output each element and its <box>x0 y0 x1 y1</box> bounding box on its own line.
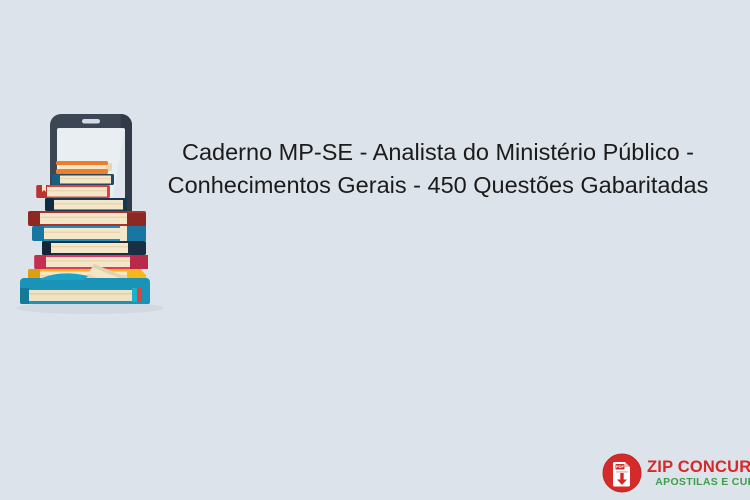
pdf-download-icon: PDF <box>602 453 642 493</box>
page-title-line-1: Caderno MP-SE - Analista do Ministério P… <box>160 136 716 169</box>
zip-concursos-logo[interactable]: PDF ZIP CONCURSOS APOSTILAS E CURSOS <box>602 450 742 496</box>
book-navy-mid <box>45 198 127 211</box>
book-blue-mid <box>32 226 146 241</box>
book-navy-upper <box>52 174 114 185</box>
page-title-line-2: Conhecimentos Gerais - 450 Questões Gaba… <box>160 169 716 202</box>
book-darkred-mid <box>28 211 146 226</box>
stack-of-books-with-tablet-illustration <box>12 112 172 317</box>
book-magenta <box>34 255 148 269</box>
book-red-upper <box>36 185 110 198</box>
poster-canvas: Caderno MP-SE - Analista do Ministério P… <box>0 0 750 500</box>
logo-wordmark: ZIP CONCURSOS APOSTILAS E CURSOS <box>647 458 750 489</box>
logo-subtitle: APOSTILAS E CURSOS <box>647 476 750 489</box>
book-navy-lower <box>42 241 146 255</box>
svg-text:PDF: PDF <box>616 464 625 469</box>
book-teal-base <box>20 273 150 304</box>
logo-title: ZIP CONCURSOS <box>647 458 750 476</box>
book-orange-top <box>56 161 112 174</box>
page-title: Caderno MP-SE - Analista do Ministério P… <box>160 136 716 202</box>
